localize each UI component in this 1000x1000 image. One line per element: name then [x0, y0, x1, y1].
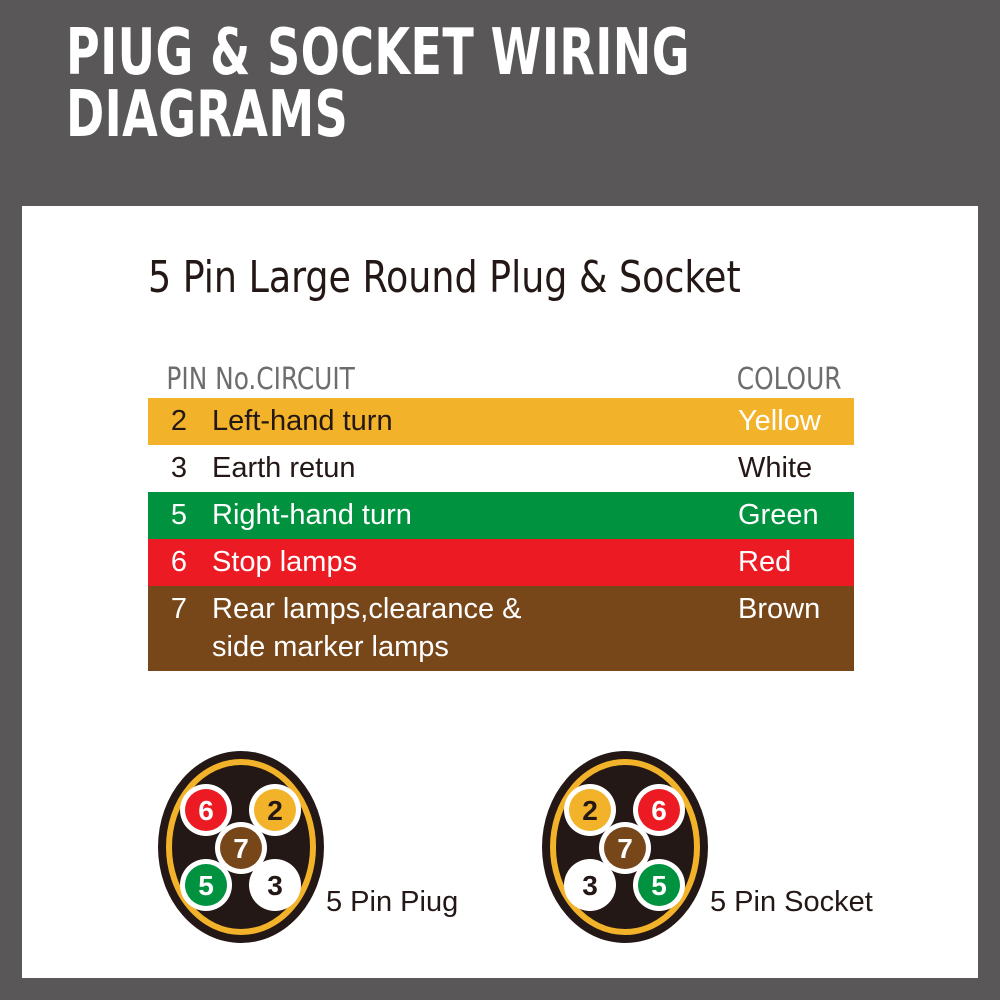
svg-text:6: 6: [651, 795, 667, 826]
wiring-diagram-page: PIUG & SOCKET WIRING DIAGRAMS 5 Pin Larg…: [0, 0, 1000, 1000]
content-sheet: 5 Pin Large Round Plug & Socket PIN No.C…: [22, 206, 978, 978]
cell-circuit: Earth retun: [212, 449, 732, 487]
banner-title: PIUG & SOCKET WIRING DIAGRAMS: [66, 22, 770, 146]
column-header-circuit: PIN No.CIRCUIT: [166, 362, 354, 397]
socket-caption: 5 Pin Socket: [710, 886, 873, 919]
connector-socket: 26735 5 Pin Socket: [532, 736, 722, 946]
cell-colour: Yellow: [738, 402, 854, 440]
cell-colour: Brown: [738, 590, 854, 628]
svg-text:2: 2: [267, 795, 283, 826]
svg-text:5: 5: [198, 870, 214, 901]
svg-text:7: 7: [617, 833, 633, 864]
cell-pin-number: 3: [162, 449, 196, 487]
cell-circuit: Stop lamps: [212, 543, 732, 581]
svg-text:5: 5: [651, 870, 667, 901]
cell-pin-number: 7: [162, 590, 196, 628]
svg-text:7: 7: [233, 833, 249, 864]
table-row: 5Right-hand turnGreen: [148, 492, 854, 539]
cell-pin-number: 6: [162, 543, 196, 581]
table-row: 7Rear lamps,clearance & side marker lamp…: [148, 586, 854, 671]
cell-colour: White: [738, 449, 854, 487]
cell-circuit: Right-hand turn: [212, 496, 732, 534]
page-banner: PIUG & SOCKET WIRING DIAGRAMS: [0, 0, 1000, 206]
table-header-row: PIN No.CIRCUIT COLOUR: [148, 362, 798, 398]
socket-face-icon: 26735: [532, 736, 722, 946]
table-row: 3Earth retunWhite: [148, 445, 854, 492]
connector-plug: 62753 5 Pin Piug: [148, 736, 338, 946]
connector-diagrams: 62753 5 Pin Piug 26735 5 Pin Socket: [22, 736, 978, 976]
svg-text:2: 2: [582, 795, 598, 826]
svg-text:3: 3: [582, 870, 598, 901]
table-row: 6Stop lampsRed: [148, 539, 854, 586]
cell-colour: Red: [738, 543, 854, 581]
table-body: 2Left-hand turnYellow3Earth retunWhite5R…: [148, 398, 854, 671]
page-title: 5 Pin Large Round Plug & Socket: [148, 252, 741, 303]
plug-caption: 5 Pin Piug: [326, 886, 458, 919]
svg-text:6: 6: [198, 795, 214, 826]
svg-text:3: 3: [267, 870, 283, 901]
cell-colour: Green: [738, 496, 854, 534]
column-header-colour: COLOUR: [737, 362, 842, 397]
cell-circuit: Left-hand turn: [212, 402, 732, 440]
table-row: 2Left-hand turnYellow: [148, 398, 854, 445]
cell-pin-number: 5: [162, 496, 196, 534]
pin-circuit-table: PIN No.CIRCUIT COLOUR 2Left-hand turnYel…: [148, 362, 854, 671]
cell-pin-number: 2: [162, 402, 196, 440]
cell-circuit: Rear lamps,clearance & side marker lamps: [212, 590, 732, 666]
plug-face-icon: 62753: [148, 736, 338, 946]
